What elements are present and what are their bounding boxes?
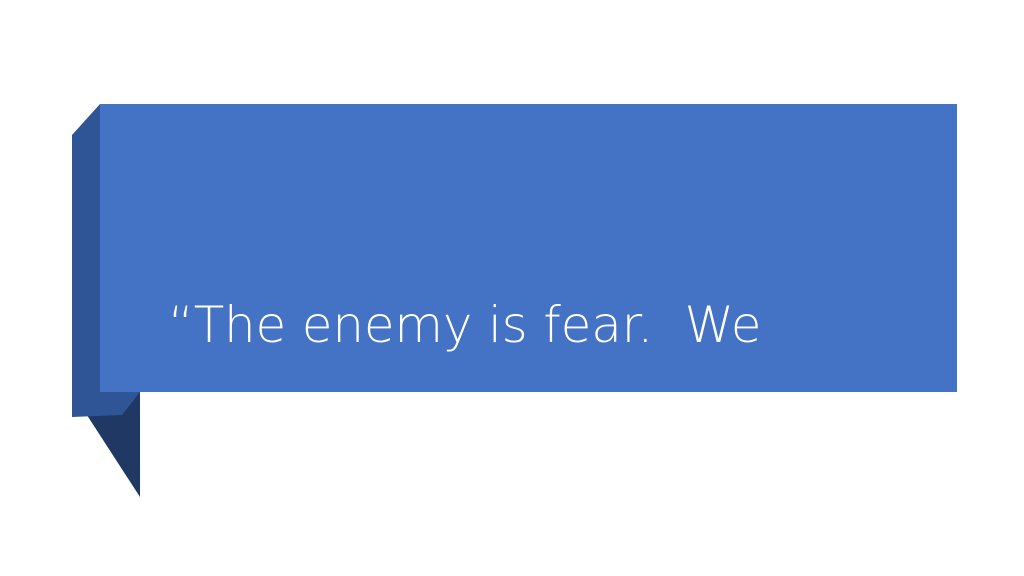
slide-canvas: “The enemy is fear. We think it is hate … (0, 0, 1024, 576)
quote-text-block: “The enemy is fear. We think it is hate … (168, 140, 948, 576)
quote-line-1: “The enemy is fear. We (168, 288, 948, 362)
quote-line-2: think it is hate but it is (168, 510, 948, 576)
